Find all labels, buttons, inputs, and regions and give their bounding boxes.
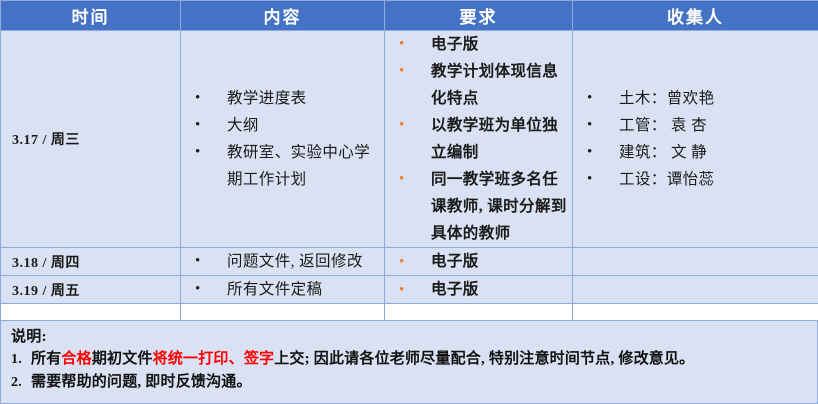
requirement-list: 电子版: [385, 249, 572, 275]
note-item: 1. 所有合格期初文件将统一打印、签字上交; 因此请各位老师尽量配合, 特别注意…: [11, 348, 809, 371]
note-segment: 所有: [31, 351, 61, 367]
header-row: 时间 内容 要求 收集人: [1, 1, 818, 31]
cell-content: 所有文件定稿: [181, 276, 385, 304]
note-segment: 需要帮助的问题, 即时反馈沟通。: [31, 374, 252, 390]
time-value: 3.19 / 周五: [1, 280, 180, 300]
table-header: 时间 内容 要求 收集人: [1, 1, 818, 31]
table-row[interactable]: 3.17 / 周三 教学进度表 大纲 教研室、实验中心学期工作计划 电子版 教学…: [1, 31, 818, 248]
list-item: 土木：曾欢艳: [573, 85, 818, 112]
column-header-collector[interactable]: 收集人: [573, 1, 818, 31]
cell-requirement: 电子版: [385, 248, 573, 276]
content-list: 问题文件, 返回修改: [181, 248, 384, 275]
cell-time: 3.17 / 周三: [1, 31, 181, 248]
list-item: 问题文件, 返回修改: [181, 248, 384, 275]
content-list: 教学进度表 大纲 教研室、实验中心学期工作计划: [181, 85, 384, 193]
note-segment: 上交; 因此请各位老师尽量配合, 特别注意时间节点, 修改意见。: [274, 351, 694, 367]
schedule-sheet: 时间 内容 要求 收集人 3.17 / 周三 教学进度表 大纲 教研室、实验中心…: [0, 0, 818, 404]
list-item: 教研室、实验中心学期工作计划: [181, 139, 384, 193]
table-row[interactable]: 3.18 / 周四 问题文件, 返回修改 电子版: [1, 248, 818, 276]
notes-title: 说明:: [11, 327, 809, 348]
cell-collector: 土木：曾欢艳 工管： 袁 杏 建筑： 文 静 工设：谭怡蕊: [573, 31, 818, 248]
cell-content: 问题文件, 返回修改: [181, 248, 385, 276]
requirement-list: 电子版: [385, 277, 572, 303]
list-item: 电子版: [385, 277, 572, 303]
note-number: 1.: [11, 348, 31, 371]
list-item: 电子版: [385, 249, 572, 275]
time-value: 3.18 / 周四: [1, 252, 180, 272]
note-item: 2. 需要帮助的问题, 即时反馈沟通。: [11, 371, 809, 394]
cell-time: 3.19 / 周五: [1, 276, 181, 304]
content-list: 所有文件定稿: [181, 276, 384, 303]
cell-requirement: 电子版: [385, 276, 573, 304]
cell-content: 教学进度表 大纲 教研室、实验中心学期工作计划: [181, 31, 385, 248]
list-item: 建筑： 文 静: [573, 139, 818, 166]
list-item: 教学计划体现信息化特点: [385, 58, 572, 112]
column-header-requirement[interactable]: 要求: [385, 1, 573, 31]
cell-requirement: 电子版 教学计划体现信息化特点 以教学班为单位独立编制 同一教学班多名任课教师,…: [385, 31, 573, 248]
table-row[interactable]: 3.19 / 周五 所有文件定稿 电子版: [1, 276, 818, 304]
column-header-content[interactable]: 内容: [181, 1, 385, 31]
list-item: 同一教学班多名任课教师, 课时分解到具体的教师: [385, 166, 572, 247]
list-item: 大纲: [181, 112, 384, 139]
list-item: 工设：谭怡蕊: [573, 166, 818, 193]
column-header-time[interactable]: 时间: [1, 1, 181, 31]
table-body: 3.17 / 周三 教学进度表 大纲 教研室、实验中心学期工作计划 电子版 教学…: [1, 31, 818, 329]
time-value: 3.17 / 周三: [1, 129, 180, 149]
note-text: 所有合格期初文件将统一打印、签字上交; 因此请各位老师尽量配合, 特别注意时间节…: [31, 348, 694, 371]
cell-time: 3.18 / 周四: [1, 248, 181, 276]
note-segment-highlight: 合格: [61, 351, 91, 367]
notes-panel: 说明: 1. 所有合格期初文件将统一打印、签字上交; 因此请各位老师尽量配合, …: [0, 320, 818, 404]
list-item: 工管： 袁 杏: [573, 112, 818, 139]
note-segment-highlight: 将统一打印、签字: [153, 351, 275, 367]
note-number: 2.: [11, 371, 31, 394]
requirement-list: 电子版 教学计划体现信息化特点 以教学班为单位独立编制 同一教学班多名任课教师,…: [385, 31, 572, 247]
list-item: 教学进度表: [181, 85, 384, 112]
collector-list: 土木：曾欢艳 工管： 袁 杏 建筑： 文 静 工设：谭怡蕊: [573, 85, 818, 193]
list-item: 电子版: [385, 31, 572, 58]
list-item: 以教学班为单位独立编制: [385, 112, 572, 166]
schedule-table: 时间 内容 要求 收集人 3.17 / 周三 教学进度表 大纲 教研室、实验中心…: [0, 0, 818, 329]
note-segment: 期初文件: [92, 351, 153, 367]
cell-collector: [573, 276, 818, 304]
cell-collector: [573, 248, 818, 276]
list-item: 所有文件定稿: [181, 276, 384, 303]
note-text: 需要帮助的问题, 即时反馈沟通。: [31, 371, 252, 394]
